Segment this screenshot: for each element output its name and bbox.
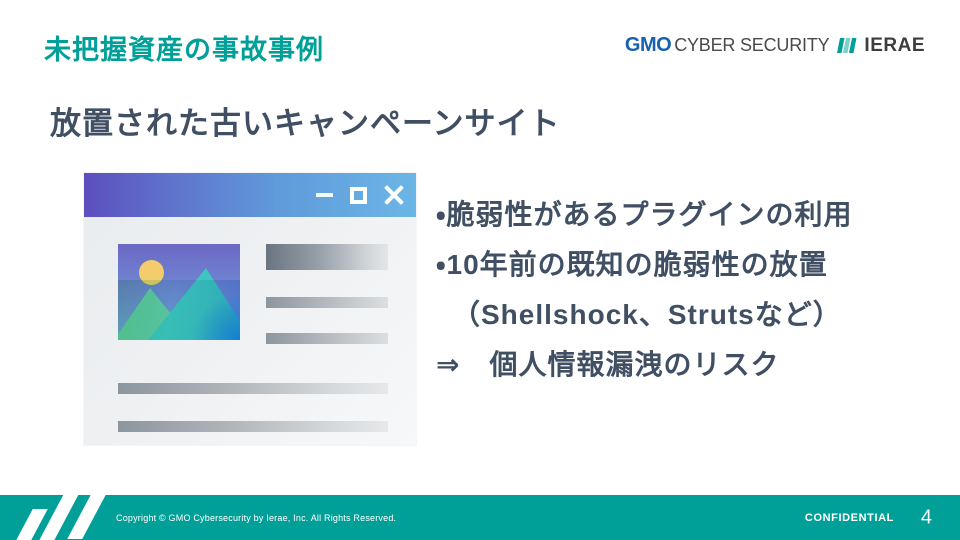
page-subtitle: 放置された古いキャンペーンサイト — [50, 98, 560, 143]
bullet-item-1: ・脆弱性があるプラグインの利用 — [436, 190, 936, 240]
logo-gmo-text: GMO — [625, 35, 671, 55]
placeholder-text-bar — [118, 383, 388, 394]
footer-confidential-label: CONFIDENTIAL — [805, 512, 894, 524]
mockup-window-titlebar — [84, 173, 416, 217]
mockup-window-controls — [316, 173, 404, 217]
mockup-window-body — [84, 217, 416, 445]
brand-logo: GMO CYBER SECURITY IERAE — [625, 33, 925, 57]
bullet-item-2: ・10年前の既知の脆弱性の放置 — [436, 240, 936, 290]
placeholder-heading-bar — [266, 244, 388, 270]
image-corner-tint — [194, 294, 240, 340]
page-title: 未把握資産の事故事例 — [44, 28, 324, 67]
landscape-image-placeholder-icon — [118, 244, 240, 340]
placeholder-text-bar — [266, 333, 388, 344]
logo-ierae-text: IERAE — [864, 36, 925, 55]
slide-footer: Copyright © GMO Cybersecurity by Ierae, … — [0, 495, 960, 540]
slide-root: { "header": { "title": "未把握資産の事故事例", "lo… — [0, 0, 960, 540]
footer-page-number: 4 — [921, 506, 932, 529]
close-icon — [384, 185, 404, 205]
footer-copyright-text: Copyright © GMO Cybersecurity by Ierae, … — [116, 513, 396, 523]
maximize-icon — [350, 187, 367, 204]
bullet-item-4: ⇒ 個人情報漏洩のリスク — [436, 340, 936, 390]
bullet-list: ・脆弱性があるプラグインの利用 ・10年前の既知の脆弱性の放置 （Shellsh… — [436, 190, 936, 390]
placeholder-text-bar — [118, 421, 388, 432]
website-mockup-illustration — [84, 173, 416, 445]
ierae-slash-mark-icon — [837, 37, 857, 54]
bullet-item-3: （Shellshock、Strutsなど） — [436, 290, 936, 340]
logo-cyber-security-text: CYBER SECURITY — [674, 36, 829, 54]
minimize-icon — [316, 193, 333, 197]
footer-slash-decoration-icon — [18, 495, 128, 540]
placeholder-text-bar — [266, 297, 388, 308]
